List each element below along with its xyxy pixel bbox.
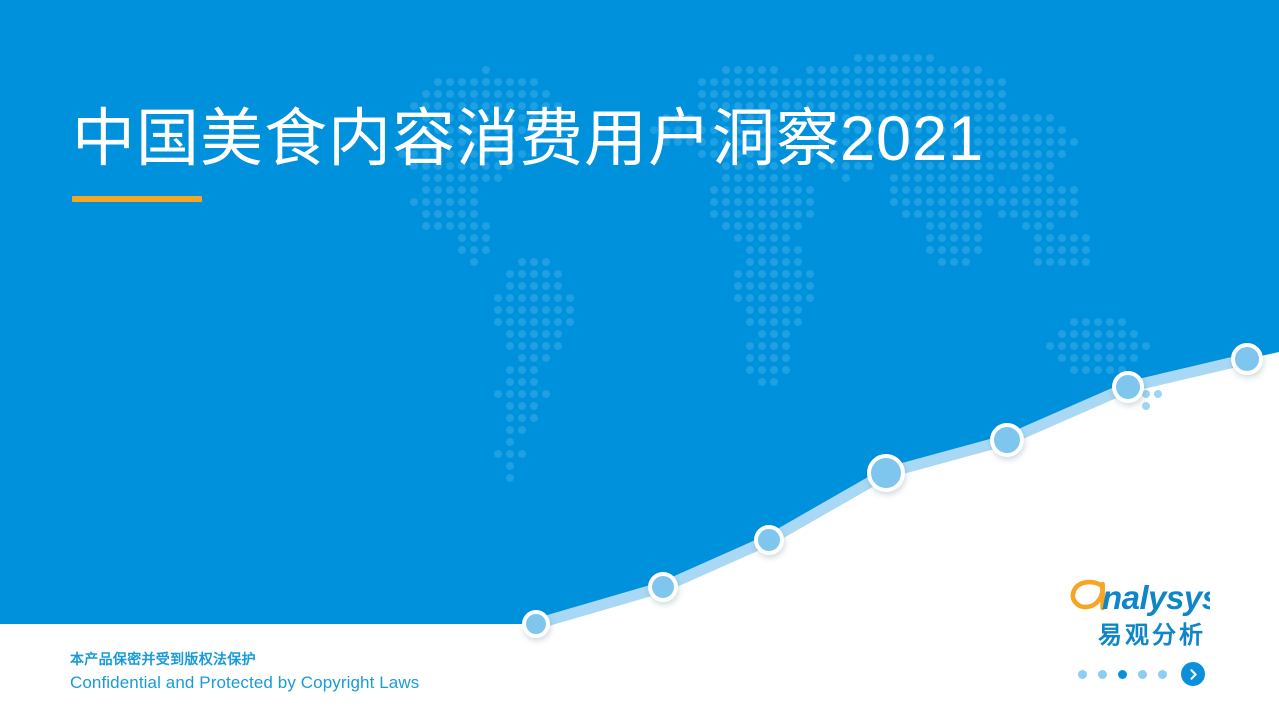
pager-dot[interactable] <box>1098 670 1107 679</box>
copyright-english: Confidential and Protected by Copyright … <box>70 670 419 696</box>
chart-node <box>867 454 905 492</box>
pager-dot[interactable] <box>1158 670 1167 679</box>
map-dot <box>1142 402 1150 410</box>
pager-dot[interactable] <box>1078 670 1087 679</box>
analysys-logo-chinese: 易观分析 <box>1098 615 1206 650</box>
svg-text:nalysys: nalysys <box>1102 579 1210 616</box>
chevron-right-icon <box>1187 668 1200 681</box>
chart-node <box>990 423 1024 457</box>
next-slide-button[interactable] <box>1181 662 1205 686</box>
chart-node <box>1231 343 1263 375</box>
chart-node <box>522 610 550 638</box>
title-slide: 中国美食内容消费用户洞察2021 本产品保密并受到版权法保护 Confident… <box>0 0 1279 719</box>
slide-pager[interactable] <box>1078 662 1205 686</box>
chart-node <box>648 572 678 602</box>
chart-node <box>1112 371 1144 403</box>
chart-node <box>754 525 784 555</box>
map-dot <box>1154 390 1162 398</box>
pager-dot[interactable] <box>1138 670 1147 679</box>
pager-dot[interactable] <box>1118 670 1127 679</box>
page-title: 中国美食内容消费用户洞察2021 <box>72 98 984 180</box>
copyright-notice: 本产品保密并受到版权法保护 Confidential and Protected… <box>70 648 419 696</box>
copyright-chinese: 本产品保密并受到版权法保护 <box>70 648 419 670</box>
title-underline-rule <box>72 196 202 202</box>
